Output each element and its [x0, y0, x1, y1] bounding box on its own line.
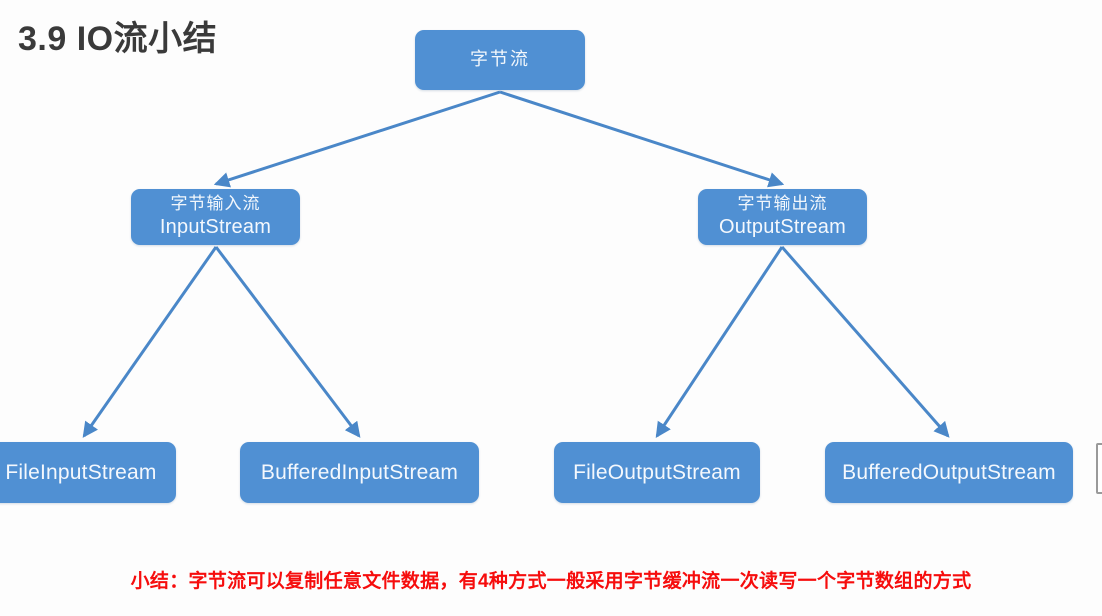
- node-output-stream-label-en: OutputStream: [719, 215, 846, 239]
- edge-input-to-bis: [216, 247, 359, 436]
- edge-input-to-fis: [84, 247, 216, 436]
- node-output-stream[interactable]: 字节输出流 OutputStream: [698, 189, 867, 245]
- page-title: 3.9 IO流小结: [18, 20, 217, 59]
- edge-output-to-fos: [657, 247, 782, 436]
- clipped-edge-box: [1096, 443, 1102, 494]
- edge-root-to-output: [500, 92, 782, 184]
- summary-note: 小结：字节流可以复制任意文件数据，有4种方式一般采用字节缓冲流一次读写一个字节数…: [0, 566, 1102, 593]
- edge-output-to-bos: [782, 247, 948, 436]
- node-input-stream-label-en: InputStream: [160, 215, 271, 239]
- node-byte-stream-label: 字节流: [470, 49, 530, 71]
- node-file-input-stream-label: FileInputStream: [5, 460, 156, 486]
- node-buffered-input-stream-label: BufferedInputStream: [261, 460, 458, 486]
- node-byte-stream[interactable]: 字节流: [415, 30, 585, 90]
- node-input-stream-label-cn: 字节输入流: [171, 194, 261, 215]
- node-buffered-output-stream[interactable]: BufferedOutputStream: [825, 442, 1073, 503]
- slide-canvas: 3.9 IO流小结 字节流 字节输入流 InputStream 字节输出流 Ou…: [0, 0, 1102, 616]
- edge-root-to-input: [216, 92, 500, 184]
- node-output-stream-label-cn: 字节输出流: [738, 194, 828, 215]
- node-file-input-stream[interactable]: FileInputStream: [0, 442, 176, 503]
- connector-layer: [0, 0, 1102, 616]
- node-input-stream[interactable]: 字节输入流 InputStream: [131, 189, 300, 245]
- node-file-output-stream-label: FileOutputStream: [573, 460, 741, 486]
- node-buffered-input-stream[interactable]: BufferedInputStream: [240, 442, 479, 503]
- node-file-output-stream[interactable]: FileOutputStream: [554, 442, 760, 503]
- node-buffered-output-stream-label: BufferedOutputStream: [842, 460, 1056, 486]
